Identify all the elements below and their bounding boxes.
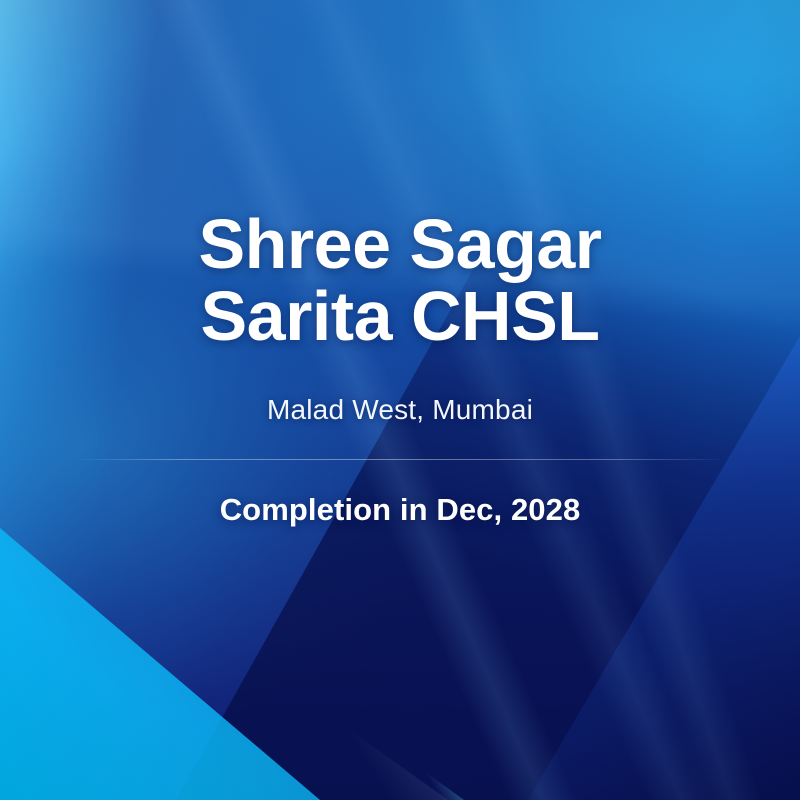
- section-divider: [80, 459, 720, 460]
- project-location: Malad West, Mumbai: [267, 394, 533, 426]
- project-title-line-2: Sarita CHSL: [40, 280, 760, 352]
- card-content: Shree Sagar Sarita CHSL Malad West, Mumb…: [0, 0, 800, 800]
- project-title: Shree Sagar Sarita CHSL: [0, 208, 800, 352]
- project-title-line-1: Shree Sagar: [198, 205, 601, 283]
- project-promo-card: Shree Sagar Sarita CHSL Malad West, Mumb…: [0, 0, 800, 800]
- project-completion-date: Completion in Dec, 2028: [220, 492, 581, 528]
